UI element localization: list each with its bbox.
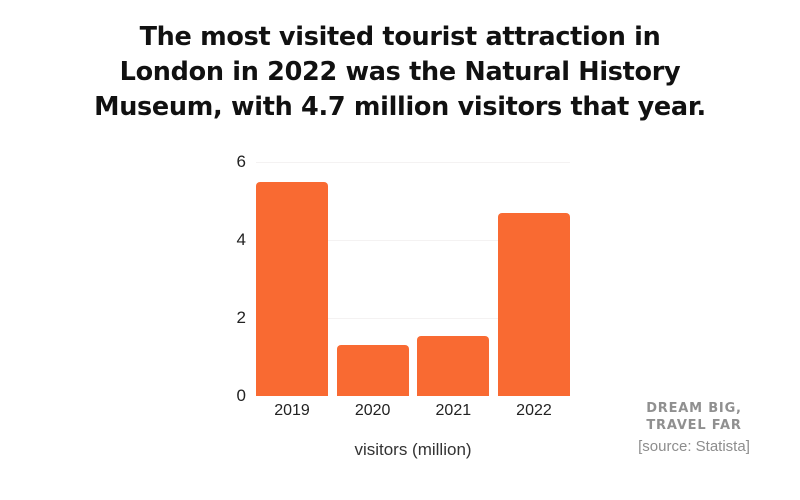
bar-series [256, 162, 570, 396]
x-tick-label: 2020 [337, 402, 409, 420]
x-tick-label: 2022 [498, 402, 570, 420]
brand-line-2: TRAVEL FAR [604, 417, 784, 434]
brand-line-1: DREAM BIG, [604, 400, 784, 417]
x-tick-label: 2019 [256, 402, 328, 420]
x-axis: 2019202020212022 [256, 402, 570, 420]
source-attribution: [source: Statista] [604, 438, 784, 455]
bar[interactable] [417, 336, 489, 396]
x-tick-label: 2021 [417, 402, 489, 420]
plot-area [256, 162, 570, 396]
y-tick-label: 4 [206, 230, 246, 250]
branding-block: DREAM BIG, TRAVEL FAR [source: Statista] [604, 400, 784, 455]
bar[interactable] [337, 345, 409, 396]
y-tick-label: 0 [206, 386, 246, 406]
x-axis-title: visitors (million) [256, 440, 570, 460]
y-tick-label: 6 [206, 152, 246, 172]
y-tick-label: 2 [206, 308, 246, 328]
bar[interactable] [256, 182, 328, 397]
bar[interactable] [498, 213, 570, 396]
y-axis: 0 2 4 6 [198, 162, 246, 396]
